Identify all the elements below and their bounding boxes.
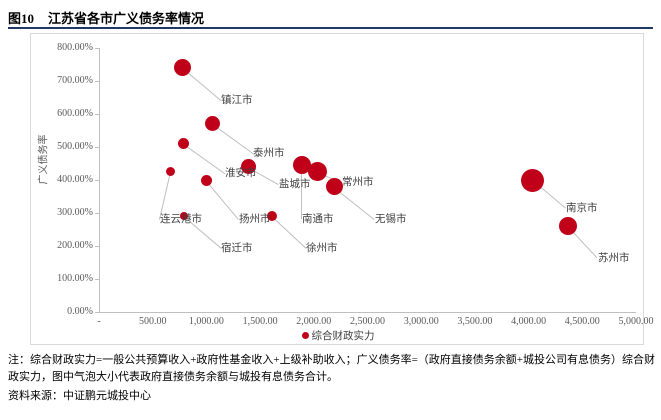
bubble-point[interactable] <box>521 169 544 192</box>
y-axis-tick-label: 300.00% <box>31 208 93 218</box>
y-axis-tick-label: 800.00% <box>31 43 93 53</box>
x-axis-tick-label: 500.00 <box>123 316 183 328</box>
x-axis-tick-label: 1,000.00 <box>176 316 236 328</box>
title-divider <box>8 27 653 29</box>
y-axis-tick-label: 100.00% <box>31 274 93 284</box>
point-label: 宿迁市 <box>221 243 253 254</box>
label-leader-line <box>183 144 225 174</box>
point-label: 连云港市 <box>160 214 202 225</box>
x-axis-tick-label: 3,000.00 <box>391 316 451 328</box>
y-axis-tick-label: 200.00% <box>31 241 93 251</box>
label-leader-line <box>271 216 306 248</box>
y-axis-tick-label: 700.00% <box>31 76 93 86</box>
legend-marker-icon <box>302 332 309 339</box>
footnotes: 注：综合财政实力=一般公共预算收入+政府性基金收入+上级补助收入；广义债务率=（… <box>8 352 656 405</box>
figure-number: 图10 <box>8 8 34 27</box>
y-axis-tick-mark <box>95 312 99 313</box>
x-axis-tick-label: 2,500.00 <box>338 316 398 328</box>
y-axis-tick-mark <box>95 246 99 247</box>
point-label: 泰州市 <box>253 148 285 159</box>
label-leader-line <box>159 172 171 219</box>
y-axis-tick-mark <box>95 48 99 49</box>
scatter-plot: 广义债务率 0.00%100.00%200.00%300.00%400.00%5… <box>31 34 645 346</box>
label-leader-line <box>212 124 253 154</box>
label-leader-line <box>206 180 239 220</box>
point-label: 徐州市 <box>306 243 338 254</box>
y-axis-tick-mark <box>95 114 99 115</box>
y-axis-tick-label: 400.00% <box>31 175 93 185</box>
figure-title-bar: 图10 江苏省各市广义债务率情况 <box>8 6 653 28</box>
source-text: 资料来源：中证鹏元城投中心 <box>8 388 656 405</box>
x-axis-tick-label: 3,500.00 <box>445 316 505 328</box>
chart-legend: 综合财政实力 <box>31 328 645 343</box>
point-label: 苏州市 <box>598 253 630 264</box>
x-axis-tick-label: - <box>69 316 129 328</box>
x-axis-tick-label: 5,000.00 <box>606 316 661 328</box>
y-axis-tick-mark <box>95 147 99 148</box>
point-label: 淮安市 <box>225 168 257 179</box>
point-label: 南通市 <box>302 214 334 225</box>
point-label: 盐城市 <box>279 179 311 190</box>
note-text: 注：综合财政实力=一般公共预算收入+政府性基金收入+上级补助收入；广义债务率=（… <box>8 352 656 386</box>
x-axis-tick-label: 1,500.00 <box>230 316 290 328</box>
x-axis-line <box>99 312 636 313</box>
y-axis-tick-label: 500.00% <box>31 142 93 152</box>
point-label: 镇江市 <box>221 95 253 106</box>
point-label: 南京市 <box>566 203 598 214</box>
y-axis-tick-mark <box>95 213 99 214</box>
chart-container: 广义债务率 0.00%100.00%200.00%300.00%400.00%5… <box>30 33 644 345</box>
legend-label: 综合财政实力 <box>312 330 375 342</box>
x-axis-tick-label: 4,500.00 <box>552 316 612 328</box>
y-axis-tick-mark <box>95 81 99 82</box>
bubble-point[interactable] <box>166 167 175 176</box>
bubble-point[interactable] <box>326 178 343 195</box>
point-label: 扬州市 <box>239 214 271 225</box>
y-axis-line <box>99 48 100 313</box>
x-axis-tick-label: 2,000.00 <box>284 316 344 328</box>
point-label: 无锡市 <box>375 214 407 225</box>
page-title: 江苏省各市广义债务率情况 <box>48 8 204 27</box>
point-label: 常州市 <box>342 177 374 188</box>
y-axis-tick-mark <box>95 279 99 280</box>
x-axis-tick-label: 4,000.00 <box>499 316 559 328</box>
bubble-point[interactable] <box>201 175 212 186</box>
y-axis-tick-mark <box>95 180 99 181</box>
y-axis-tick-label: 600.00% <box>31 109 93 119</box>
